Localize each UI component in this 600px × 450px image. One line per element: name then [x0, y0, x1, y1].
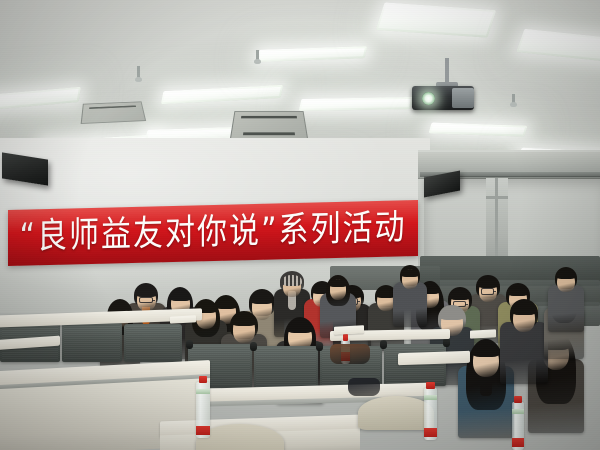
bag-on-desk: [330, 344, 370, 364]
bottle-cap: [343, 334, 349, 341]
person-hair-fringe: [401, 269, 419, 277]
projector-mount-pole: [445, 58, 449, 84]
person-hair-fringe: [287, 322, 312, 334]
person-hair-fringe: [556, 271, 575, 280]
bag-on-desk: [348, 378, 380, 396]
person-hair-fringe: [136, 287, 157, 297]
bottle-cap: [514, 396, 522, 403]
chair-back: [384, 344, 446, 386]
person-glasses: [139, 297, 153, 304]
ceiling-light-panel: [299, 97, 414, 111]
bottle-label: [196, 426, 210, 435]
sprinkler-head-1: [137, 66, 140, 79]
sprinkler-head-3: [512, 94, 515, 104]
person-hair-fringe: [508, 287, 529, 296]
chair-knob: [316, 342, 323, 351]
sprinkler-head-2: [256, 50, 259, 61]
banner-text: “良师益友对你说”系列活动: [19, 211, 406, 256]
water-bottle-front-left: [196, 376, 210, 438]
person-hair-fringe: [472, 344, 500, 357]
bottle-label-upper: [512, 409, 524, 414]
man-row3-right: [548, 268, 584, 336]
chair-knob: [186, 340, 193, 349]
person-hair-fringe: [450, 291, 471, 300]
chair-knob: [443, 338, 450, 347]
chair-knob: [380, 340, 387, 349]
bottle-label-upper: [196, 389, 210, 394]
projector-side-panel: [452, 88, 474, 108]
man-front-right-mid: [500, 300, 547, 389]
person-hair-fringe: [251, 293, 274, 304]
bottle-label-upper: [424, 395, 437, 400]
person-hair-fringe: [512, 304, 536, 315]
person-hair-fringe: [440, 309, 463, 320]
ac-diffuser-left: [81, 101, 147, 124]
bottle-label: [512, 438, 524, 447]
chair-back: [254, 346, 318, 390]
bottle-label: [424, 428, 437, 437]
water-bottle-front-right: [424, 382, 437, 440]
chair-back: [124, 324, 182, 362]
person-hair-fringe: [478, 279, 498, 288]
person-glasses: [481, 288, 494, 294]
projector-lens: [422, 92, 435, 105]
person-hair-fringe: [329, 279, 348, 288]
chair-knob: [250, 342, 257, 351]
desk-ledge-right: [398, 351, 470, 366]
chair-back: [62, 322, 122, 362]
water-bottle-edge-right: [512, 396, 524, 450]
event-banner: “良师益友对你说”系列活动: [8, 200, 418, 266]
paper-on-desk: [334, 325, 364, 335]
person-hair-fringe: [232, 315, 256, 326]
paper-on-desk: [470, 329, 496, 338]
window-frame-horizontal: [486, 196, 508, 199]
lecture-hall-photo: “良师益友对你说”系列活动: [0, 0, 600, 450]
person-hair-fringe: [282, 275, 301, 287]
bottle-cap: [426, 382, 434, 389]
chair-seat-round: [358, 396, 434, 430]
man-far-back-center: [393, 266, 427, 331]
bottle-cap: [199, 376, 208, 383]
paper-on-desk: [170, 315, 196, 323]
